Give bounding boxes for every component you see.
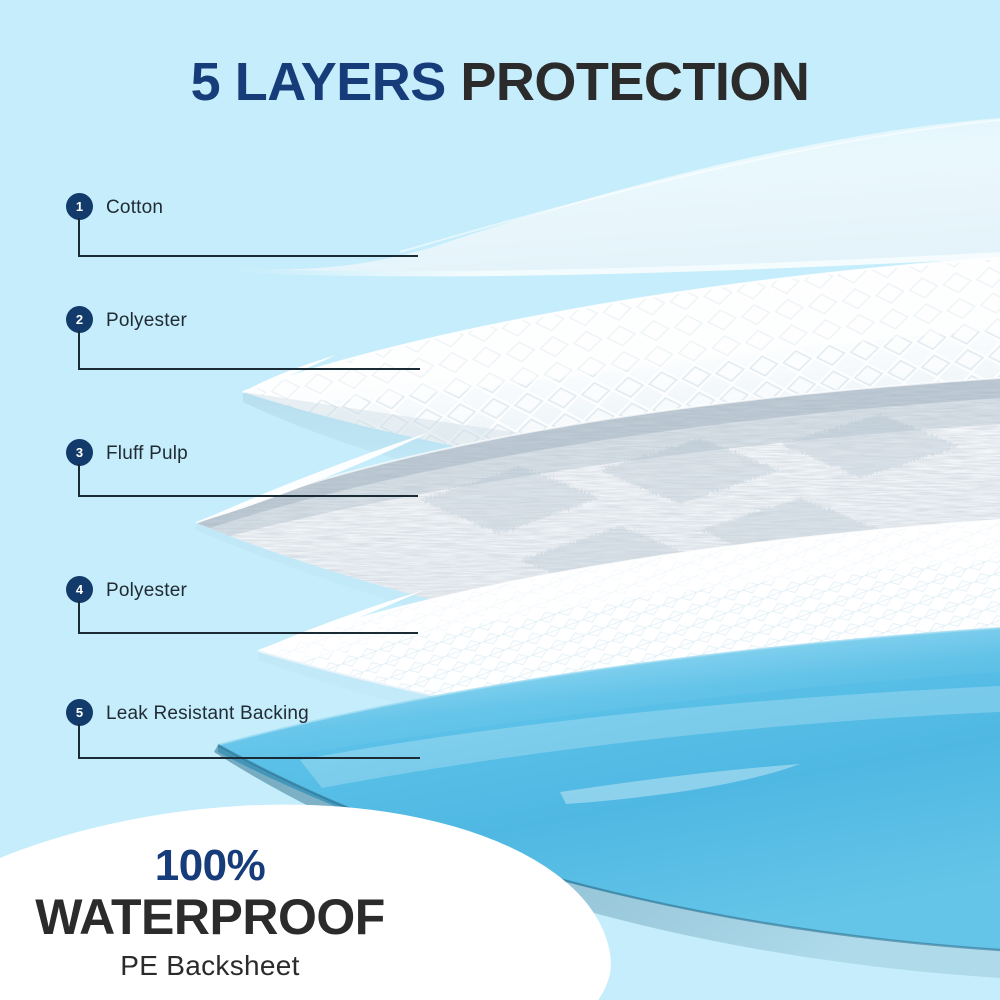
infographic-canvas: 5 LAYERS PROTECTION 1 Cotton 2 Polyester… (0, 0, 1000, 1000)
title-accent: 5 LAYERS (191, 52, 446, 112)
waterproof-percent: 100% (0, 843, 420, 889)
leader-line-vertical-3 (78, 464, 80, 497)
leader-line-horizontal-5 (78, 757, 420, 759)
layer-number-badge-2: 2 (66, 306, 93, 333)
leader-line-horizontal-3 (78, 495, 418, 497)
leader-line-horizontal-1 (78, 255, 418, 257)
layer-label-2: Polyester (106, 311, 187, 330)
leader-line-vertical-5 (78, 724, 80, 759)
leader-line-vertical-2 (78, 331, 80, 370)
layer-label-5: Leak Resistant Backing (106, 704, 309, 723)
title-main: PROTECTION (460, 52, 809, 112)
layer-number-badge-1: 1 (66, 193, 93, 220)
leader-line-horizontal-2 (78, 368, 420, 370)
layer-number-badge-4: 4 (66, 576, 93, 603)
page-title: 5 LAYERS PROTECTION (0, 55, 1000, 109)
layer-number-badge-5: 5 (66, 699, 93, 726)
waterproof-badge-text: 100% WATERPROOF PE Backsheet (0, 843, 420, 980)
layer-label-1: Cotton (106, 198, 163, 217)
layer-1-cotton (232, 118, 1000, 276)
leader-line-vertical-4 (78, 601, 80, 634)
layer-label-4: Polyester (106, 581, 187, 600)
waterproof-subline: PE Backsheet (0, 952, 420, 980)
layer-number-badge-3: 3 (66, 439, 93, 466)
leader-line-vertical-1 (78, 218, 80, 257)
waterproof-headline: WATERPROOF (0, 890, 420, 944)
leader-line-horizontal-4 (78, 632, 418, 634)
layer-label-3: Fluff Pulp (106, 444, 188, 463)
